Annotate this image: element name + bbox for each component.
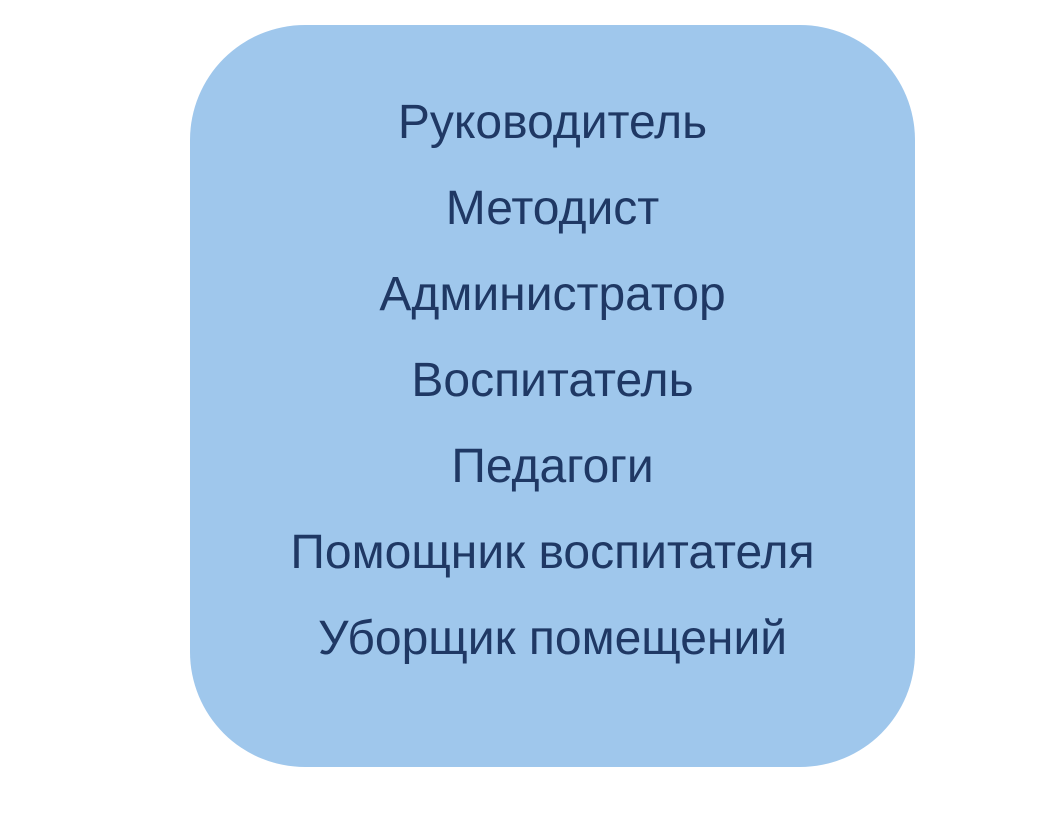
role-item-metodist: Методист xyxy=(190,166,915,252)
role-item-rukovoditel: Руководитель xyxy=(190,80,915,166)
slide-canvas: Руководитель Методист Администратор Восп… xyxy=(0,0,1053,827)
role-item-administrator: Администратор xyxy=(190,252,915,338)
role-item-pedagogi: Педагоги xyxy=(190,424,915,510)
roles-card: Руководитель Методист Администратор Восп… xyxy=(190,25,915,767)
role-item-vospitatel: Воспитатель xyxy=(190,338,915,424)
role-item-uborshchik-pomeshcheniy: Уборщик помещений xyxy=(190,596,915,682)
role-item-pomoshchnik-vospitatelya: Помощник воспитателя xyxy=(190,510,915,596)
